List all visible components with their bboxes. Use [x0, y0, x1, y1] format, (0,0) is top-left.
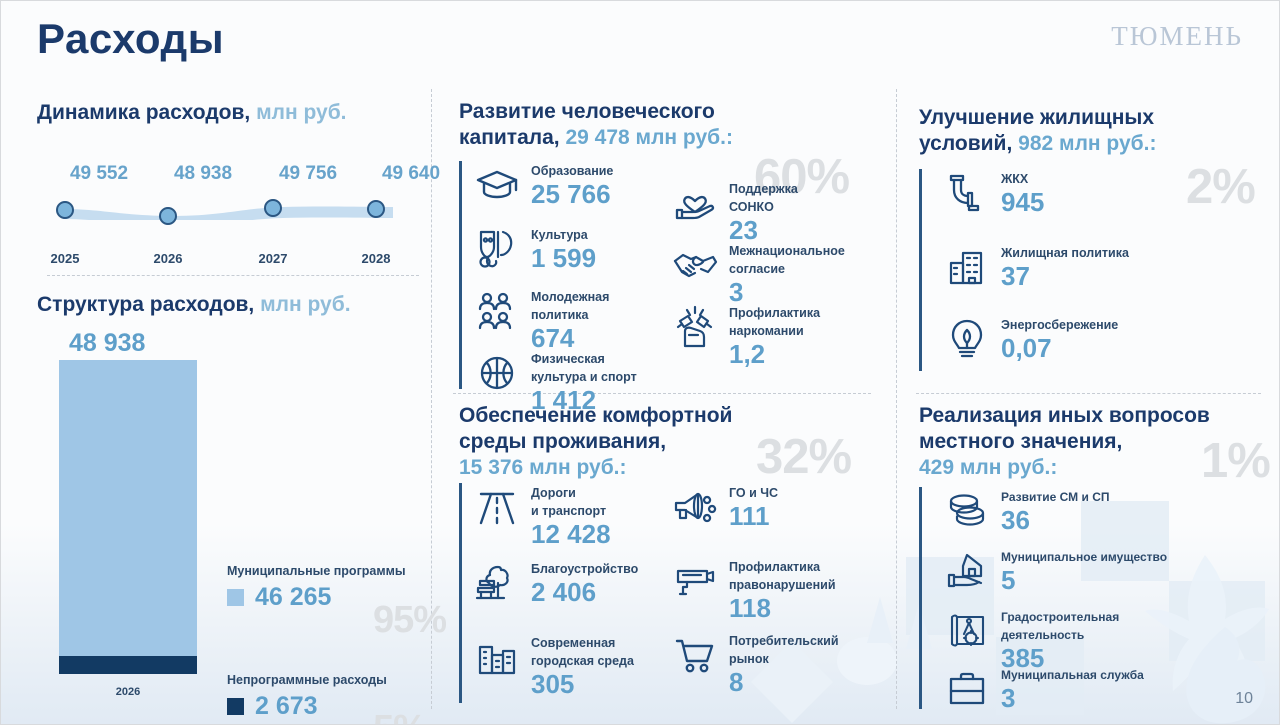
- metric-label: Культура: [531, 228, 588, 242]
- briefcase-icon: [943, 665, 991, 713]
- line-point-value: 48 938: [174, 163, 232, 185]
- metric-item-youth-policy: Молодежная политика 674: [473, 287, 609, 352]
- apartment-building-icon: [943, 243, 991, 291]
- metric-label: Поддержка СОНКО: [729, 182, 798, 214]
- section-title-line1: Улучшение жилищных: [919, 106, 1154, 129]
- metric-value: 2 406: [531, 579, 638, 606]
- icon-group-housing-conditions: ЖКХ 945 Жилищная политика 37: [919, 169, 1259, 371]
- pipe-icon: [943, 169, 991, 217]
- shopping-cart-icon: [671, 631, 719, 679]
- bar-chart-plot: 2026 Муниципальные программы 46 265 95% …: [37, 362, 427, 702]
- section-amount: 29 478: [565, 126, 629, 149]
- axis-tick-label: 2028: [362, 251, 391, 266]
- icon-group-human-capital: Образование 25 766 Культура 1 599: [459, 161, 879, 389]
- bar-segment-programs: [59, 360, 197, 656]
- section-amount: 15 376: [459, 456, 523, 479]
- expenses-dynamics-chart: Динамика расходов, млн руб. 49 552 48 93…: [37, 101, 415, 281]
- metric-label: Градостроительная деятельность: [1001, 610, 1119, 642]
- section-title-comfortable-environment: Обеспечение комфортной среды проживания,…: [459, 403, 789, 481]
- chart-title-unit: млн руб.: [260, 293, 350, 316]
- metric-item-sme-development: Развитие СМ и СП 36: [943, 487, 1110, 535]
- axis-tick-label: 2026: [154, 251, 183, 266]
- section-title-line2: капитала,: [459, 126, 560, 149]
- line-data-point: [264, 199, 282, 217]
- section-title-line1: Развитие человеческого: [459, 100, 715, 123]
- metric-label: Муниципальная служба: [1001, 668, 1144, 682]
- metric-item-roads: Дороги и транспорт 12 428: [473, 483, 611, 548]
- page-title: Расходы: [37, 15, 224, 63]
- chart-baseline: [47, 275, 419, 276]
- metric-item-interethnic: Межнациональное согласие 3: [671, 241, 845, 306]
- bar-total-label: 48 938: [69, 329, 427, 358]
- metric-value: 945: [1001, 189, 1044, 216]
- legend-percent: 95%: [373, 599, 446, 642]
- legend-percent: 5%: [373, 708, 426, 725]
- city-buildings-icon: [473, 633, 521, 681]
- metric-label: Современная городская среда: [531, 636, 634, 668]
- metric-value: 111: [729, 503, 778, 530]
- group-accent-bar: [459, 161, 462, 389]
- line-chart-band: [63, 205, 393, 220]
- section-title-line1: Обеспечение комфортной: [459, 404, 732, 427]
- group-accent-bar: [919, 487, 922, 709]
- brand-logo: ТЮМЕНЬ: [1111, 21, 1243, 52]
- handshake-icon: [671, 241, 719, 289]
- section-amount-unit: млн руб.:: [960, 456, 1057, 479]
- blueprint-compass-icon: [943, 607, 991, 655]
- axis-tick-label: 2025: [51, 251, 80, 266]
- metric-value: 8: [729, 669, 839, 696]
- metric-label: Муниципальное имущество: [1001, 550, 1167, 564]
- metric-value: 36: [1001, 507, 1110, 534]
- line-point-value: 49 756: [279, 163, 337, 185]
- line-data-point: [367, 200, 385, 218]
- metric-item-drug-prevention: Профилактика наркомании 1,2: [671, 303, 820, 368]
- people-group-icon: [473, 287, 521, 335]
- metric-item-offense-prevention: Профилактика правонарушений 118: [671, 557, 836, 622]
- metric-value: 5: [1001, 567, 1167, 594]
- metric-item-culture: Культура 1 599: [473, 225, 596, 273]
- chart-title: Структура расходов, млн руб.: [37, 293, 427, 317]
- section-amount-unit: млн руб.:: [636, 126, 733, 149]
- metric-item-urban-environment: Современная городская среда 305: [473, 633, 634, 698]
- metric-item-housing-policy: Жилищная политика 37: [943, 243, 1129, 291]
- metric-item-municipal-property: Муниципальное имущество 5: [943, 547, 1167, 595]
- heart-in-hand-icon: [671, 179, 719, 227]
- megaphone-icon: [671, 483, 719, 531]
- section-title-housing-conditions: Улучшение жилищных условий, 982 млн руб.…: [919, 105, 1239, 157]
- bar-segment-nonprogram: [59, 656, 197, 674]
- metric-label: Энергосбережение: [1001, 318, 1118, 332]
- metric-value: 25 766: [531, 181, 613, 208]
- metric-item-landscaping: Благоустройство 2 406: [473, 559, 638, 607]
- chart-title-text: Динамика расходов,: [37, 101, 250, 124]
- park-bench-tree-icon: [473, 559, 521, 607]
- legend-entry-nonprogram: Непрограммные расходы 2 673: [227, 673, 387, 721]
- metric-label: Дороги и транспорт: [531, 486, 606, 518]
- metric-item-civil-defense: ГО и ЧС 111: [671, 483, 778, 531]
- metric-label: Молодежная политика: [531, 290, 609, 322]
- metric-item-urban-planning: Градостроительная деятельность 385: [943, 607, 1119, 672]
- group-accent-bar: [919, 169, 922, 371]
- section-divider-right: [916, 393, 1261, 394]
- section-amount: 982: [1018, 132, 1053, 155]
- section-title-human-capital: Развитие человеческого капитала, 29 478 …: [459, 99, 789, 151]
- metric-label: Образование: [531, 164, 613, 178]
- line-point-value: 49 552: [70, 163, 128, 185]
- section-amount: 429: [919, 456, 954, 479]
- metric-item-consumer-market: Потребительский рынок 8: [671, 631, 839, 696]
- axis-tick-label: 2027: [259, 251, 288, 266]
- column-divider-right: [896, 89, 897, 709]
- line-data-point: [159, 207, 177, 225]
- metric-label: Профилактика наркомании: [729, 306, 820, 338]
- coins-icon: [943, 487, 991, 535]
- section-percent-other-matters: 1%: [1201, 437, 1270, 486]
- axis-tick-label: 2026: [59, 686, 197, 698]
- metric-value: 305: [531, 671, 634, 698]
- section-amount-unit: млн руб.:: [529, 456, 626, 479]
- metric-label: Профилактика правонарушений: [729, 560, 836, 592]
- legend-label: Непрограммные расходы: [227, 673, 387, 689]
- metric-value: 1,2: [729, 341, 820, 368]
- chart-title-unit: млн руб.: [256, 101, 346, 124]
- metric-item-utilities: ЖКХ 945: [943, 169, 1044, 217]
- metric-label: Физическая культура и спорт: [531, 352, 637, 384]
- legend-label: Муниципальные программы: [227, 564, 406, 580]
- line-chart-plot: 49 552 48 938 49 756 49 640 2025 2026 20…: [37, 163, 415, 281]
- metric-item-energy-saving: Энергосбережение 0,07: [943, 315, 1118, 363]
- syringe-break-icon: [671, 303, 719, 351]
- icon-group-other-matters: Развитие СМ и СП 36 Муниципальное имущес…: [919, 487, 1264, 709]
- metric-value: 0,07: [1001, 335, 1118, 362]
- metric-item-nko-support: Поддержка СОНКО 23: [671, 179, 798, 244]
- house-in-hand-icon: [943, 547, 991, 595]
- metric-item-education: Образование 25 766: [473, 161, 613, 209]
- slide: Расходы ТЮМЕНЬ 10 Динамика расходов, млн…: [0, 0, 1280, 725]
- group-accent-bar: [459, 483, 462, 703]
- legend-value: 2 673: [255, 692, 318, 721]
- graduation-cap-icon: [473, 161, 521, 209]
- metric-label: ЖКХ: [1001, 172, 1028, 186]
- section-title-line2: условий,: [919, 132, 1012, 155]
- section-percent-comfortable-environment: 32%: [756, 433, 851, 482]
- metric-label: Развитие СМ и СП: [1001, 490, 1110, 504]
- section-title-line2: местного значения,: [919, 430, 1122, 453]
- metric-value: 1 599: [531, 245, 596, 272]
- metric-value: 37: [1001, 263, 1129, 290]
- eco-bulb-icon: [943, 315, 991, 363]
- stacked-bar: [59, 360, 197, 674]
- section-amount-unit: млн руб.:: [1059, 132, 1156, 155]
- icon-group-comfortable-environment: Дороги и транспорт 12 428 Благоустройств…: [459, 483, 879, 703]
- metric-value: 3: [1001, 685, 1144, 712]
- section-title-line2: среды проживания,: [459, 430, 666, 453]
- road-icon: [473, 483, 521, 531]
- chart-title: Динамика расходов, млн руб.: [37, 101, 415, 125]
- metric-value: 118: [729, 595, 836, 622]
- metric-label: Жилищная политика: [1001, 246, 1129, 260]
- line-point-value: 49 640: [382, 163, 440, 185]
- legend-value: 46 265: [255, 583, 331, 612]
- metric-label: Межнациональное согласие: [729, 244, 845, 276]
- line-data-point: [56, 201, 74, 219]
- section-title-line1: Реализация иных вопросов: [919, 404, 1210, 427]
- metric-label: Благоустройство: [531, 562, 638, 576]
- security-camera-icon: [671, 557, 719, 605]
- metric-item-municipal-service: Муниципальная служба 3: [943, 665, 1144, 713]
- expenses-structure-chart: Структура расходов, млн руб. 48 938 2026…: [37, 293, 427, 702]
- basketball-icon: [473, 349, 521, 397]
- legend-swatch: [227, 589, 244, 606]
- chart-title-text: Структура расходов,: [37, 293, 254, 316]
- theater-masks-icon: [473, 225, 521, 273]
- metric-label: ГО и ЧС: [729, 486, 778, 500]
- metric-value: 12 428: [531, 521, 611, 548]
- legend-swatch: [227, 698, 244, 715]
- metric-label: Потребительский рынок: [729, 634, 839, 666]
